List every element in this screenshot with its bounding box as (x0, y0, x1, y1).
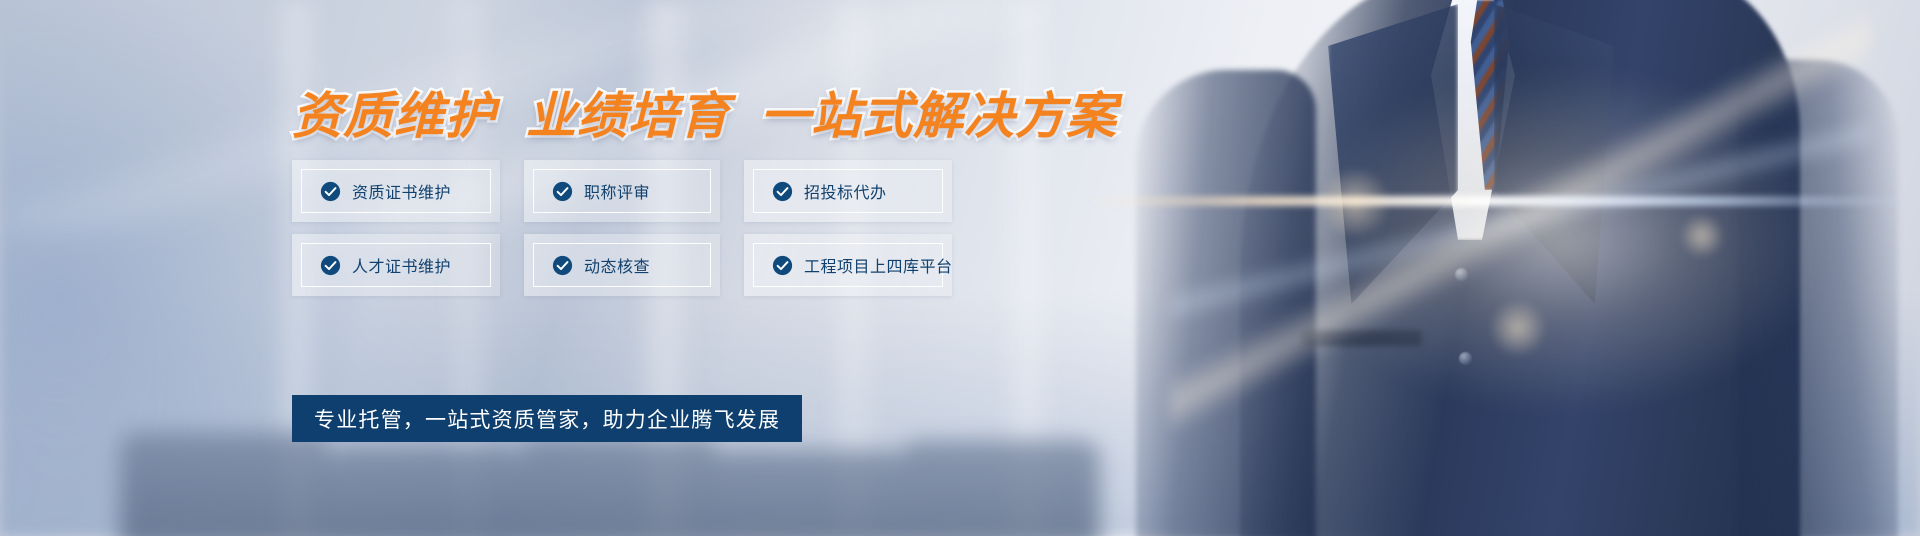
feature-card-label: 人才证书维护 (352, 253, 451, 277)
feature-card-label: 招投标代办 (804, 179, 887, 203)
headline-part-3: 一站式解决方案 (760, 88, 1117, 144)
feature-card-label: 工程项目上四库平台 (804, 253, 953, 277)
banner-content: 资质维护业绩培育一站式解决方案 资质证书维护 (0, 0, 1150, 536)
check-circle-icon (772, 181, 793, 202)
feature-card-project-four-library-platform[interactable]: 工程项目上四库平台 (744, 234, 952, 296)
suit-left-arm (1136, 70, 1316, 536)
check-circle-icon (552, 181, 573, 202)
tagline-bar: 专业托管，一站式资质管家，助力企业腾飞发展 (292, 395, 802, 442)
check-circle-icon (320, 255, 341, 276)
tagline-text: 专业托管，一站式资质管家，助力企业腾飞发展 (314, 404, 780, 434)
check-circle-icon (772, 255, 793, 276)
feature-card-title-evaluation[interactable]: 职称评审 (524, 160, 720, 222)
suit-right-arm (1738, 60, 1898, 536)
feature-card-row-2: 人才证书维护 动态核查 (292, 234, 952, 296)
feature-card-dynamic-verification[interactable]: 动态核查 (524, 234, 720, 296)
feature-card-label: 动态核查 (584, 253, 650, 277)
feature-card-qualification-certificate-maintenance[interactable]: 资质证书维护 (292, 160, 500, 222)
headline-part-2: 业绩培育 (526, 88, 730, 144)
feature-card-label: 资质证书维护 (352, 179, 451, 203)
headline: 资质维护业绩培育一站式解决方案 (292, 76, 1117, 148)
businessman-in-suit-photo (1120, 0, 1920, 536)
suit-button-upper (1455, 268, 1468, 281)
check-circle-icon (552, 255, 573, 276)
feature-card-row-1: 资质证书维护 职称评审 (292, 160, 952, 222)
feature-card-grid: 资质证书维护 职称评审 (292, 160, 952, 308)
check-circle-icon (320, 181, 341, 202)
feature-card-label: 职称评审 (584, 179, 650, 203)
suit-button-lower (1459, 352, 1472, 365)
feature-card-talent-certificate-maintenance[interactable]: 人才证书维护 (292, 234, 500, 296)
feature-card-bidding-agency[interactable]: 招投标代办 (744, 160, 952, 222)
promo-banner: 资质维护业绩培育一站式解决方案 资质证书维护 (0, 0, 1920, 536)
suit-pocket (1302, 330, 1422, 346)
headline-part-1: 资质维护 (292, 88, 496, 144)
